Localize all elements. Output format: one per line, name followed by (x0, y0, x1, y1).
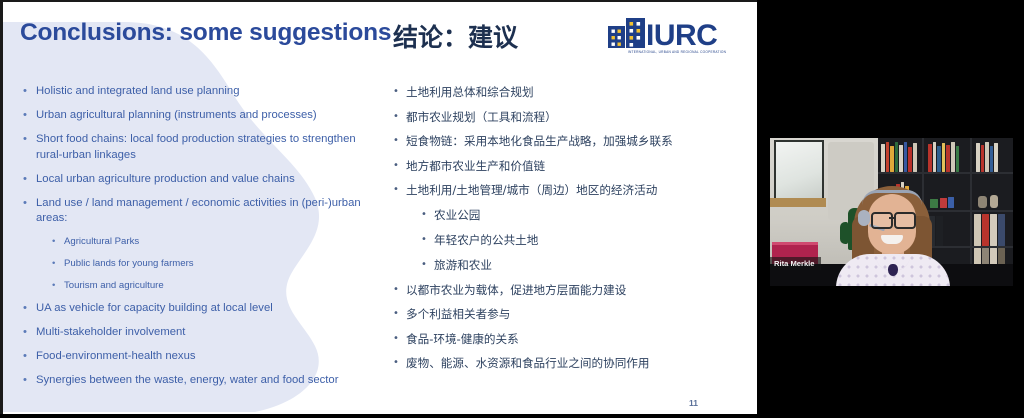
bullet-list-chinese: •土地利用总体和综合规划 •都市农业规划（工具和流程） •短食物链：采用本地化食… (388, 84, 753, 371)
bullet-glyph-icon: • (393, 355, 399, 371)
bullet-glyph-icon: • (393, 331, 399, 347)
list-item: •都市农业规划（工具和流程） (388, 109, 753, 125)
list-item-sub: •Public lands for young farmers (19, 257, 369, 270)
list-item: •土地利用/土地管理/城市（周边）地区的经济活动 (388, 182, 753, 198)
bullet-glyph-icon: • (421, 232, 427, 248)
list-item-label: Urban agricultural planning (instruments… (36, 109, 317, 121)
svg-text:IURC: IURC (646, 19, 717, 52)
presentation-slide[interactable]: Conclusions: some suggestions 结论：建议 (0, 0, 757, 414)
list-item-label: 年轻农户的公共土地 (434, 233, 538, 247)
list-item-label: 土地利用总体和综合规划 (406, 85, 534, 99)
bullet-glyph-icon: • (52, 279, 55, 292)
bullet-glyph-icon: • (393, 306, 399, 322)
list-item: •Synergies between the waste, energy, wa… (19, 373, 369, 389)
list-item: •Land use / land management / economic a… (19, 196, 369, 227)
list-item-label: 食品-环境-健康的关系 (406, 332, 519, 346)
list-item: •短食物链：采用本地化食品生产战略，加强城乡联系 (388, 133, 753, 149)
list-item: •Multi-stakeholder involvement (19, 325, 369, 341)
participant-mouth (881, 235, 903, 244)
bullet-glyph-icon: • (23, 301, 27, 317)
list-item: •土地利用总体和综合规划 (388, 84, 753, 100)
list-item: •Short food chains: local food productio… (19, 132, 369, 163)
list-item: •废物、能源、水资源和食品行业之间的协同作用 (388, 355, 753, 371)
list-item-sub: •农业公园 (388, 207, 753, 223)
list-item: •Food-environment-health nexus (19, 349, 369, 365)
bullet-glyph-icon: • (393, 84, 399, 100)
bullet-glyph-icon: • (393, 109, 399, 125)
list-item-label: Multi-stakeholder involvement (36, 326, 185, 338)
list-item-label: 旅游和农业 (434, 258, 492, 272)
bullet-glyph-icon: • (23, 132, 27, 148)
list-item-label: Public lands for young farmers (64, 258, 194, 269)
page-title-chinese: 结论：建议 (393, 18, 518, 54)
list-item-sub: •年轻农户的公共土地 (388, 232, 753, 248)
list-item-label: UA as vehicle for capacity building at l… (36, 302, 273, 314)
list-item: •以都市农业为载体，促进地方层面能力建设 (388, 282, 753, 298)
bullet-glyph-icon: • (23, 373, 27, 389)
list-item-label: 多个利益相关者参与 (406, 307, 510, 321)
headset-earcup-icon (858, 210, 870, 226)
bullet-glyph-icon: • (393, 182, 399, 198)
list-item-label: Tourism and agriculture (64, 280, 164, 291)
bullet-glyph-icon: • (52, 257, 55, 270)
list-item-label: Food-environment-health nexus (36, 350, 196, 362)
video-background-plant (840, 222, 848, 244)
page-title-english: Conclusions: some suggestions (20, 19, 391, 47)
participant-video-tile[interactable]: Rita Merkle (770, 138, 1013, 286)
bullet-glyph-icon: • (393, 133, 399, 149)
video-background-windowsill (770, 198, 826, 207)
list-item-label: Synergies between the waste, energy, wat… (36, 374, 338, 386)
logo-tagline: INTERNATIONAL, URBAN AND REGIONAL COOPER… (606, 50, 748, 54)
bullet-glyph-icon: • (23, 84, 27, 100)
bullet-glyph-icon: • (23, 349, 27, 365)
participant-name-label: Rita Merkle (770, 257, 821, 270)
bullet-glyph-icon: • (393, 158, 399, 174)
list-item: •地方都市农业生产和价值链 (388, 158, 753, 174)
slide-page-number: 11 (689, 398, 698, 408)
bullet-glyph-icon: • (421, 207, 427, 223)
bullet-glyph-icon: • (23, 196, 27, 212)
list-item-sub: •Tourism and agriculture (19, 279, 369, 292)
bullet-column-chinese: •土地利用总体和综合规划 •都市农业规划（工具和流程） •短食物链：采用本地化食… (388, 84, 753, 380)
video-conference-screen: Conclusions: some suggestions 结论：建议 (0, 0, 1024, 418)
bullet-glyph-icon: • (23, 108, 27, 124)
list-item-label: Land use / land management / economic ac… (36, 197, 361, 225)
list-item-label: 土地利用/土地管理/城市（周边）地区的经济活动 (406, 183, 657, 197)
list-item-label: 以都市农业为载体，促进地方层面能力建设 (406, 283, 626, 297)
list-item-label: 短食物链：采用本地化食品生产战略，加强城乡联系 (406, 134, 673, 148)
bullet-glyph-icon: • (23, 325, 27, 341)
bullet-glyph-icon: • (393, 282, 399, 298)
eyeglasses-bridge (889, 217, 894, 219)
list-item-sub: •旅游和农业 (388, 257, 753, 273)
headset-band-icon (862, 190, 922, 205)
list-item-sub: •Agricultural Parks (19, 235, 369, 248)
bullet-glyph-icon: • (421, 257, 427, 273)
list-item: •食品-环境-健康的关系 (388, 331, 753, 347)
list-item: •Local urban agriculture production and … (19, 172, 369, 188)
bullet-glyph-icon: • (52, 235, 55, 248)
list-item-label: 农业公园 (434, 208, 480, 222)
list-item: •Holistic and integrated land use planni… (19, 84, 369, 100)
list-item-label: Agricultural Parks (64, 236, 139, 247)
bullet-column-english: •Holistic and integrated land use planni… (19, 84, 369, 397)
list-item-label: 地方都市农业生产和价值链 (406, 159, 545, 173)
iurc-logo: IURC INTERNATIONAL, URBAN AND REGIONAL C… (606, 12, 748, 60)
bullet-list-english: •Holistic and integrated land use planni… (19, 84, 369, 389)
list-item-label: 废物、能源、水资源和食品行业之间的协同作用 (406, 356, 649, 370)
participant-necklace-pendant (888, 264, 898, 276)
list-item: •Urban agricultural planning (instrument… (19, 108, 369, 124)
list-item-label: Local urban agriculture production and v… (36, 173, 295, 185)
video-background-window (774, 140, 824, 202)
list-item: •UA as vehicle for capacity building at … (19, 301, 369, 317)
eyeglasses-right-lens (894, 212, 916, 229)
eyeglasses-left-lens (871, 212, 893, 229)
list-item-label: Short food chains: local food production… (36, 133, 356, 161)
bullet-glyph-icon: • (23, 172, 27, 188)
list-item-label: Holistic and integrated land use plannin… (36, 85, 239, 97)
list-item: •多个利益相关者参与 (388, 306, 753, 322)
list-item-label: 都市农业规划（工具和流程） (406, 110, 557, 124)
